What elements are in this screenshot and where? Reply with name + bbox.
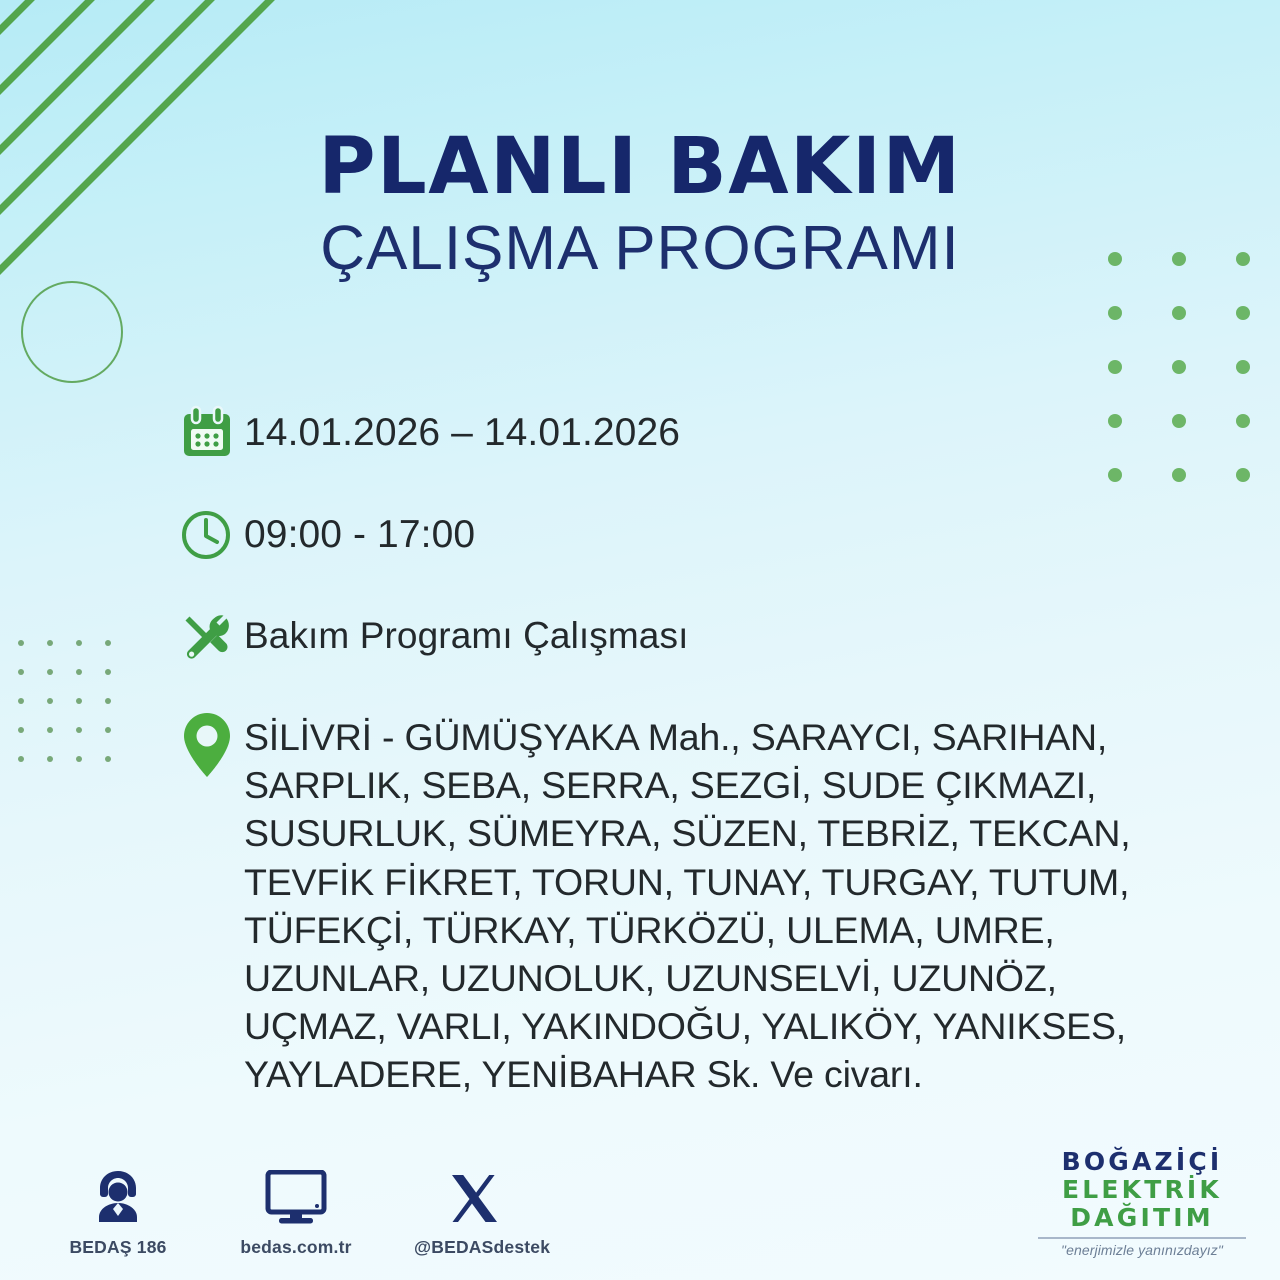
brand-slogan: "enerjimizle yanınızdayız" — [1034, 1242, 1250, 1258]
brand-line-bogazici: BOĞAZİÇİ — [1034, 1148, 1250, 1176]
location-line: SİLİVRİ - GÜMÜŞYAKA Mah., SARAYCI, SARIH… — [244, 716, 1107, 758]
location-line: TEVFİK FİKRET, TORUN, TUNAY, TURGAY, TUT… — [244, 861, 1129, 903]
brand-line-dagitim: DAĞITIM — [1034, 1204, 1250, 1232]
info-list: 14.01.2026 – 14.01.2026 09:00 - 17:00 — [178, 405, 1208, 1099]
time-range-value: 09:00 - 17:00 — [244, 507, 1208, 558]
poster-canvas: PLANLI BAKIM ÇALIŞMA PROGRAMI 14.01.2026… — [0, 0, 1280, 1280]
info-row-location: SİLİVRİ - GÜMÜŞYAKA Mah., SARAYCI, SARIH… — [178, 711, 1208, 1099]
calendar-icon — [178, 405, 244, 471]
map-pin-icon — [178, 711, 244, 777]
page-subtitle: ÇALIŞMA PROGRAMI — [0, 216, 1280, 281]
circle-outline-decoration — [21, 281, 123, 383]
location-line: UZUNLAR, UZUNOLUK, UZUNSELVİ, UZUNÖZ, — [244, 957, 1057, 999]
contact-website[interactable]: bedas.com.tr — [236, 1164, 356, 1258]
dot-grid-left-decoration — [18, 640, 134, 785]
location-line: UÇMAZ, VARLI, YAKINDOĞU, YALIKÖY, YANIKS… — [244, 1005, 1126, 1047]
contact-x-label: @BEDASdestek — [414, 1237, 534, 1258]
clock-icon — [178, 507, 244, 573]
date-range-value: 14.01.2026 – 14.01.2026 — [244, 405, 1208, 456]
contact-x-twitter[interactable]: @BEDASdestek — [414, 1164, 534, 1258]
location-line: SUSURLUK, SÜMEYRA, SÜZEN, TEBRİZ, TEKCAN… — [244, 812, 1130, 854]
brand-divider — [1038, 1237, 1246, 1239]
location-value: SİLİVRİ - GÜMÜŞYAKA Mah., SARAYCI, SARIH… — [244, 711, 1208, 1099]
page-title-block: PLANLI BAKIM ÇALIŞMA PROGRAMI — [0, 128, 1280, 281]
info-row-time: 09:00 - 17:00 — [178, 507, 1208, 573]
brand-line-elektrik: ELEKTRİK — [1034, 1176, 1250, 1204]
location-line: TÜFEKÇİ, TÜRKAY, TÜRKÖZÜ, ULEMA, UMRE, — [244, 909, 1055, 951]
footer-contact-bar: BEDAŞ 186 bedas.com.tr @BEDASdestek — [58, 1164, 534, 1258]
x-twitter-icon — [414, 1164, 534, 1226]
contact-phone[interactable]: BEDAŞ 186 — [58, 1164, 178, 1258]
info-row-date: 14.01.2026 – 14.01.2026 — [178, 405, 1208, 471]
contact-phone-label: BEDAŞ 186 — [58, 1237, 178, 1258]
page-title: PLANLI BAKIM — [0, 128, 1280, 208]
info-row-work-type: Bakım Programı Çalışması — [178, 609, 1208, 675]
contact-website-label: bedas.com.tr — [236, 1237, 356, 1258]
tools-icon — [178, 609, 244, 675]
location-line: YAYLADERE, YENİBAHAR Sk. Ve civarı. — [244, 1053, 923, 1095]
brand-logo: BOĞAZİÇİ ELEKTRİK DAĞITIM "enerjimizle y… — [1034, 1148, 1250, 1258]
location-line: SARPLIK, SEBA, SERRA, SEZGİ, SUDE ÇIKMAZ… — [244, 764, 1096, 806]
work-type-value: Bakım Programı Çalışması — [244, 609, 1208, 658]
monitor-icon — [236, 1164, 356, 1226]
call-center-agent-icon — [58, 1164, 178, 1226]
